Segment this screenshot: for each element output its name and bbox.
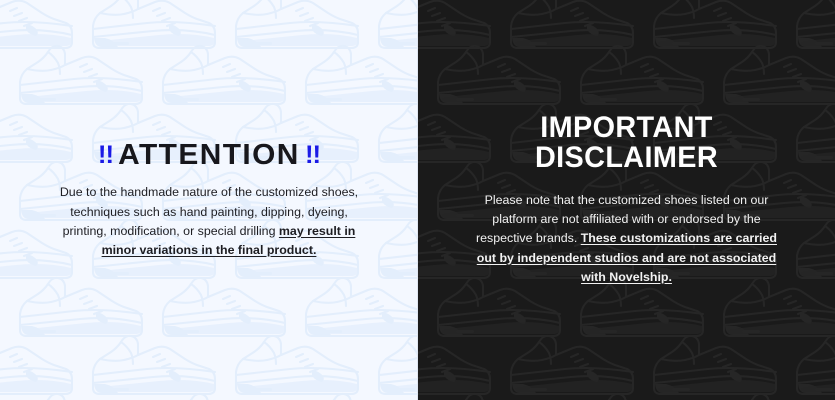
sneaker-icon xyxy=(81,0,224,60)
attention-body: Due to the handmade nature of the custom… xyxy=(59,183,359,260)
sneaker-icon xyxy=(569,386,712,400)
customization-notice-banner: !!ATTENTION!! Due to the handmade nature… xyxy=(0,0,835,400)
sneaker-icon xyxy=(224,328,367,400)
attention-heading: !!ATTENTION!! xyxy=(23,140,396,170)
sneaker-icon xyxy=(642,0,785,60)
double-exclamation-icon-left: !! xyxy=(93,142,118,168)
sneaker-icon xyxy=(224,0,367,60)
sneaker-icon xyxy=(712,38,835,116)
sneaker-icon xyxy=(569,38,712,116)
disclaimer-heading-line-1: IMPORTANT xyxy=(453,113,800,144)
panel-divider xyxy=(417,0,418,400)
disclaimer-panel: IMPORTANT DISCLAIMER Please note that th… xyxy=(418,0,835,400)
sneaker-icon xyxy=(499,328,642,400)
sneaker-icon xyxy=(367,0,418,60)
disclaimer-content: IMPORTANT DISCLAIMER Please note that th… xyxy=(418,113,835,287)
sneaker-icon xyxy=(367,328,418,400)
sneaker-pattern-row xyxy=(8,270,418,348)
sneaker-icon xyxy=(151,270,294,348)
sneaker-pattern-row xyxy=(0,328,418,400)
sneaker-pattern-row xyxy=(0,0,418,60)
sneaker-icon xyxy=(418,328,499,400)
sneaker-pattern-row xyxy=(418,328,835,400)
sneaker-icon xyxy=(642,328,785,400)
attention-panel: !!ATTENTION!! Due to the handmade nature… xyxy=(0,0,418,400)
sneaker-icon xyxy=(785,0,835,60)
sneaker-icon xyxy=(294,270,418,348)
sneaker-icon xyxy=(81,328,224,400)
disclaimer-heading-line-2: DISCLAIMER xyxy=(453,143,800,174)
double-exclamation-icon-right: !! xyxy=(300,142,325,168)
sneaker-pattern-row xyxy=(8,386,418,400)
sneaker-icon xyxy=(0,0,81,60)
sneaker-icon xyxy=(294,38,418,116)
sneaker-pattern-row xyxy=(8,38,418,116)
sneaker-pattern-row xyxy=(426,386,835,400)
sneaker-icon xyxy=(0,328,81,400)
sneaker-icon xyxy=(418,0,499,60)
sneaker-icon xyxy=(8,270,151,348)
sneaker-pattern-row xyxy=(418,0,835,60)
sneaker-icon xyxy=(426,386,569,400)
sneaker-icon xyxy=(8,38,151,116)
disclaimer-heading: IMPORTANT DISCLAIMER xyxy=(453,113,800,174)
sneaker-pattern-row xyxy=(426,38,835,116)
attention-content: !!ATTENTION!! Due to the handmade nature… xyxy=(0,140,418,260)
sneaker-icon xyxy=(499,0,642,60)
sneaker-icon xyxy=(151,38,294,116)
sneaker-icon xyxy=(294,386,418,400)
sneaker-icon xyxy=(426,38,569,116)
attention-heading-label: ATTENTION xyxy=(118,139,300,171)
sneaker-icon xyxy=(151,386,294,400)
sneaker-icon xyxy=(8,386,151,400)
disclaimer-body: Please note that the customized shoes li… xyxy=(467,191,787,287)
sneaker-icon xyxy=(712,386,835,400)
sneaker-icon xyxy=(785,328,835,400)
